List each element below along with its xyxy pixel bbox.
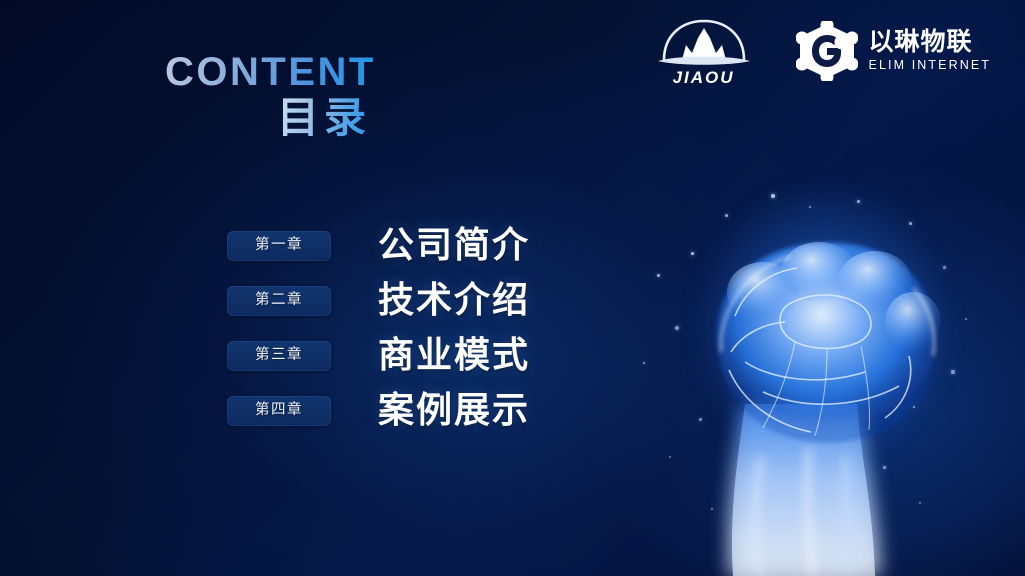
presentation-slide: JIAOU 以琳物联 ELIM INTERNET CONTENT 目录 — [0, 0, 1025, 576]
agenda-list: 第一章 公司简介 第二章 技术介绍 第三章 商业模式 第四章 案例展示 — [227, 224, 530, 444]
energy-particles — [613, 156, 1025, 576]
agenda-title-4: 案例展示 — [378, 393, 530, 429]
glowing-fist-artwork — [613, 156, 1025, 576]
page-title-en: CONTENT — [165, 52, 376, 92]
agenda-title-3: 商业模式 — [378, 338, 530, 374]
chapter-badge-label-3: 第三章 — [255, 348, 303, 363]
jiaou-logo: JIAOU — [652, 16, 756, 86]
chapter-badge-3[interactable]: 第三章 — [227, 341, 331, 371]
chapter-badge-label-4: 第四章 — [255, 403, 303, 418]
chapter-badge-4[interactable]: 第四章 — [227, 396, 331, 426]
agenda-title-1: 公司简介 — [378, 228, 530, 264]
elim-logo: 以琳物联 ELIM INTERNET — [796, 21, 991, 81]
agenda-title-2: 技术介绍 — [378, 283, 530, 319]
chapter-badge-label-2: 第二章 — [255, 293, 303, 308]
agenda-item-3[interactable]: 第三章 商业模式 — [227, 334, 530, 377]
chapter-badge-label-1: 第一章 — [255, 238, 303, 253]
brand-logo-bar: JIAOU 以琳物联 ELIM INTERNET — [652, 16, 991, 86]
agenda-item-4[interactable]: 第四章 案例展示 — [227, 389, 530, 432]
elim-name-cn: 以琳物联 — [869, 29, 991, 55]
page-title-cn: 目录 — [277, 96, 371, 140]
fist-glow-halo — [643, 176, 1003, 576]
elim-name-en: ELIM INTERNET — [869, 58, 991, 73]
agenda-item-1[interactable]: 第一章 公司简介 — [227, 224, 530, 267]
agenda-item-2[interactable]: 第二章 技术介绍 — [227, 279, 530, 322]
fist-illustration-icon — [613, 156, 1025, 576]
hex-g-logo-icon — [796, 21, 858, 81]
chapter-badge-2[interactable]: 第二章 — [227, 286, 331, 316]
jiaou-wordmark: JIAOU — [673, 69, 735, 86]
chapter-badge-1[interactable]: 第一章 — [227, 231, 331, 261]
slide-title-block: CONTENT 目录 — [165, 52, 505, 140]
sunrise-crown-icon — [652, 16, 756, 68]
